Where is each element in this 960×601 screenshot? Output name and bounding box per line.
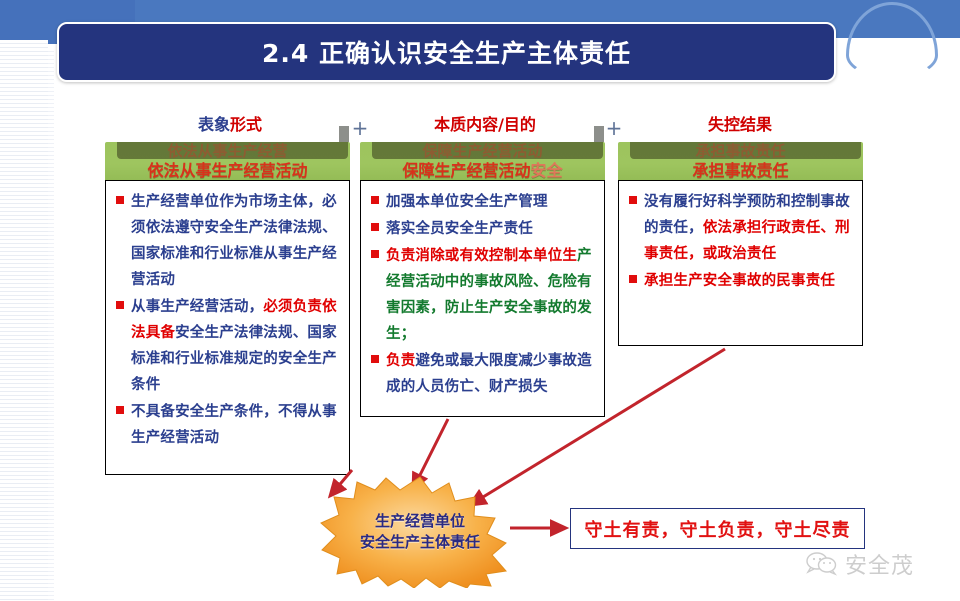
content-box-3: 没有履行好科学预防和控制事故的责任，依法承担行政责任、刑事责任，或政治责任承担生…	[618, 180, 863, 346]
green-header-2-label: 保障生产经营活动安全	[360, 157, 605, 181]
column-heading-2-red: 本质内容/目的	[434, 115, 536, 134]
bullet-text-segment: 承担生产安全事故的民事责任	[644, 273, 835, 289]
bullet-text: 没有履行好科学预防和控制事故的责任，依法承担行政责任、刑事责任，或政治责任	[644, 189, 856, 267]
green-header-1: 依法从事生产经营 依法从事生产经营活动	[105, 142, 350, 182]
bullet-square-icon	[116, 301, 124, 309]
bullet-item: 不具备安全生产条件，不得从事生产经营活动	[114, 399, 343, 451]
bullet-text: 生产经营单位作为市场主体，必须依法遵守安全生产法律法规、国家标准和行业标准从事生…	[131, 189, 343, 293]
green-header-3: 承担事故责任 承担事故责任	[618, 142, 863, 182]
bullet-text-segment: 避免或最大限度减少事故造成的人员伤亡、财产损失	[386, 353, 592, 395]
bullet-text: 落实全员安全生产责任	[386, 216, 598, 242]
column-heading-2: 本质内容/目的	[385, 113, 585, 137]
column-heading-1-blue: 表象	[198, 115, 230, 134]
starburst-label: 生产经营单位 安全生产主体责任	[318, 476, 522, 588]
green-header-3-label-main: 承担事故责任	[692, 161, 788, 180]
starburst-line-1: 生产经营单位	[375, 511, 465, 532]
bullet-item: 负责避免或最大限度减少事故造成的人员伤亡、财产损失	[369, 348, 598, 400]
slide-title-bar: 2.4 正确认识安全生产主体责任	[57, 22, 836, 82]
bullet-square-icon	[371, 355, 379, 363]
bullet-item: 加强本单位安全生产管理	[369, 189, 598, 215]
green-header-2: 保障生产经营活动 保障生产经营活动安全	[360, 142, 605, 182]
green-header-3-label: 承担事故责任	[618, 157, 863, 181]
bullet-item: 负责消除或有效控制本单位生产经营活动中的事故风险、危险有害因素，防止生产安全事故…	[369, 243, 598, 347]
bullet-item: 生产经营单位作为市场主体，必须依法遵守安全生产法律法规、国家标准和行业标准从事生…	[114, 189, 343, 293]
bullet-square-icon	[371, 223, 379, 231]
bullet-square-icon	[116, 196, 124, 204]
bullet-text: 负责避免或最大限度减少事故造成的人员伤亡、财产损失	[386, 348, 598, 400]
bullet-text-segment: 加强本单位安全生产管理	[386, 194, 548, 210]
plus-icon-1: +	[350, 118, 370, 138]
green-header-1-label-main: 依法从事生产经营活动	[147, 161, 307, 180]
bullet-item: 承担生产安全事故的民事责任	[627, 268, 856, 294]
page-title: 2.4 正确认识安全生产主体责任	[262, 34, 631, 70]
green-header-2-label-soft: 安全	[531, 161, 563, 180]
left-striped-strip	[0, 40, 48, 601]
starburst: 生产经营单位 安全生产主体责任	[318, 476, 522, 588]
bullet-square-icon	[629, 275, 637, 283]
bullet-text: 承担生产安全事故的民事责任	[644, 268, 856, 294]
slide-canvas: 2.4 正确认识安全生产主体责任 表象形式 本质内容/目的 失控结果 + + 依…	[0, 0, 960, 601]
bullet-text: 加强本单位安全生产管理	[386, 189, 598, 215]
bullet-text-segment: 从事生产经营活动，	[131, 299, 263, 315]
watermark-label: 安全茂	[845, 548, 914, 580]
slogan-text: 守土有责，守土负责，守土尽责	[585, 516, 851, 542]
column-heading-1: 表象形式	[130, 113, 330, 137]
left-striped-strip-secondary	[48, 48, 54, 601]
content-box-1: 生产经营单位作为市场主体，必须依法遵守安全生产法律法规、国家标准和行业标准从事生…	[105, 180, 350, 475]
bullet-item: 落实全员安全生产责任	[369, 216, 598, 242]
bullet-item: 没有履行好科学预防和控制事故的责任，依法承担行政责任、刑事责任，或政治责任	[627, 189, 856, 267]
content-box-2: 加强本单位安全生产管理落实全员安全生产责任负责消除或有效控制本单位生产经营活动中…	[360, 180, 605, 417]
bullet-square-icon	[629, 196, 637, 204]
starburst-line-2: 安全生产主体责任	[360, 532, 480, 553]
green-header-1-label: 依法从事生产经营活动	[105, 157, 350, 181]
bullet-square-icon	[116, 406, 124, 414]
green-header-2-label-main: 保障生产经营活动	[402, 161, 530, 180]
plus-icon-2: +	[604, 118, 624, 138]
column-heading-1-red: 形式	[230, 115, 262, 134]
bullet-text: 从事生产经营活动，必须负责依法具备安全生产法律法规、国家标准和行业标准规定的安全…	[131, 294, 343, 398]
bullet-square-icon	[371, 250, 379, 258]
slogan-box: 守土有责，守土负责，守土尽责	[570, 508, 865, 549]
column-heading-3: 失控结果	[640, 113, 840, 137]
wechat-icon	[805, 551, 839, 577]
bullet-text: 不具备安全生产条件，不得从事生产经营活动	[131, 399, 343, 451]
bullet-item: 从事生产经营活动，必须负责依法具备安全生产法律法规、国家标准和行业标准规定的安全…	[114, 294, 343, 398]
bullet-text: 负责消除或有效控制本单位生产经营活动中的事故风险、危险有害因素，防止生产安全事故…	[386, 243, 598, 347]
column-heading-3-red: 失控结果	[708, 115, 772, 134]
bullet-text-segment: 落实全员安全生产责任	[386, 221, 533, 237]
bullet-text-segment: 负责消除或有效控制本单位生	[386, 248, 577, 264]
bullet-square-icon	[371, 196, 379, 204]
bullet-text-segment: 不具备安全生产条件，不得从事生产经营活动	[131, 404, 337, 446]
bullet-text-segment: 生产经营单位作为市场主体，必须依法遵守安全生产法律法规、国家标准和行业标准从事生…	[131, 194, 337, 288]
watermark: 安全茂	[805, 548, 914, 580]
bullet-text-segment: 负责	[386, 353, 415, 369]
